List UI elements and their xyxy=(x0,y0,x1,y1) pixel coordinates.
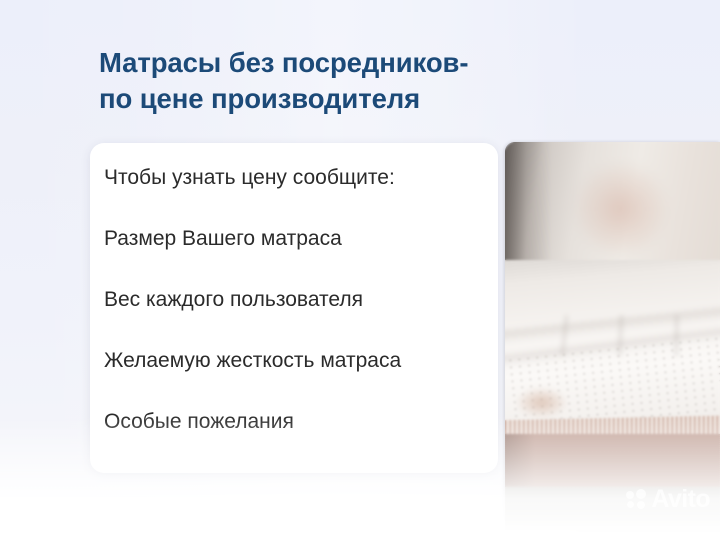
bottom-fade xyxy=(0,414,720,534)
list-item: Чтобы узнать цену сообщите: xyxy=(104,165,492,191)
list-item: Вес каждого пользователя xyxy=(104,287,492,313)
list-item: Размер Вашего матраса xyxy=(104,226,492,252)
page-title: Матрасы без посредников- по цене произво… xyxy=(99,45,539,117)
listing-image: Avito Матрасы без посредников- по цене п… xyxy=(0,0,720,534)
list-item: Желаемую жесткость матраса xyxy=(104,348,492,374)
requirements-list: Чтобы узнать цену сообщите: Размер Вашег… xyxy=(104,165,492,435)
